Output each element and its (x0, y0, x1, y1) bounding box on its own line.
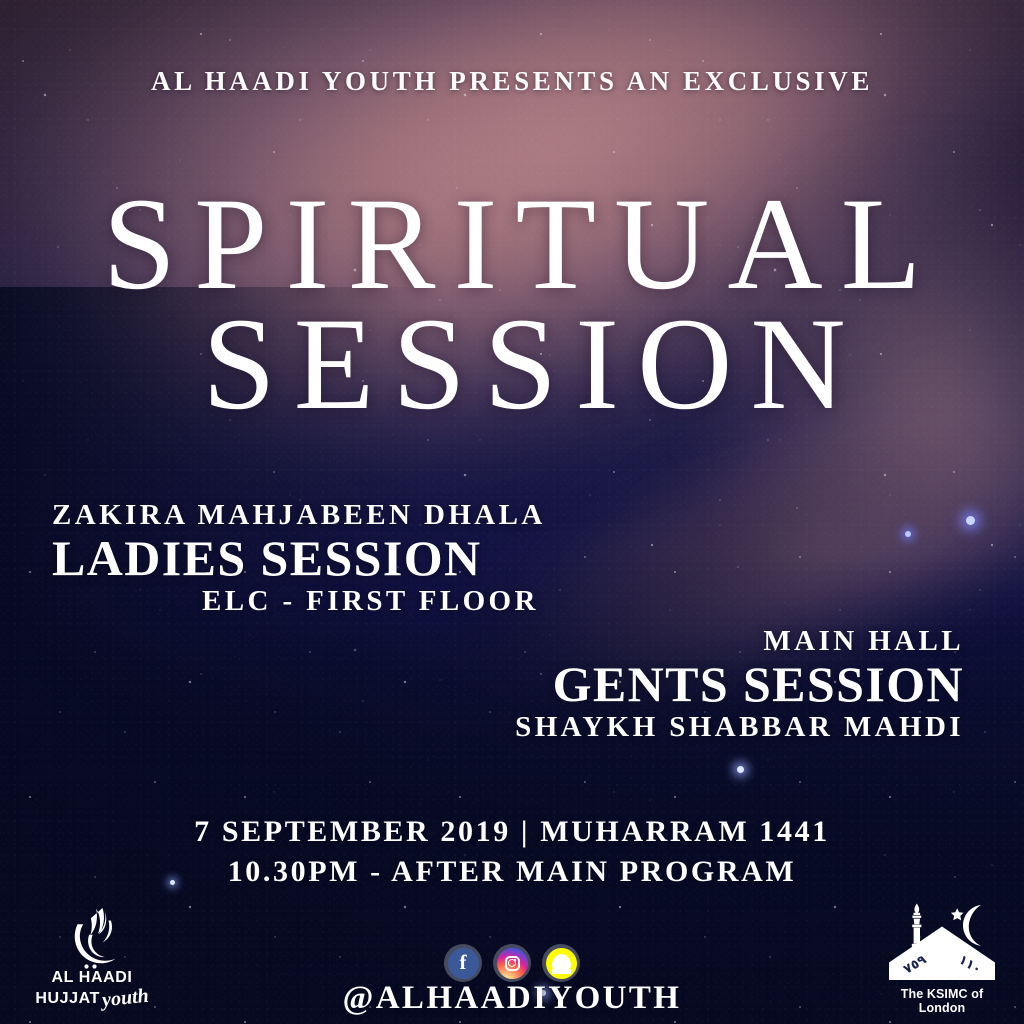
facebook-icon[interactable]: f (448, 948, 479, 979)
instagram-icon-halo[interactable] (493, 944, 531, 982)
snapchat-ghost-glyph (552, 954, 571, 973)
instagram-icon[interactable] (497, 948, 528, 979)
gents-session-block: MAIN HALL GENTS SESSION SHAYKH SHABBAR M… (515, 626, 964, 742)
bright-star (966, 516, 975, 525)
event-date-line: 7 SEPTEMBER 2019 | MUHARRAM 1441 (0, 812, 1024, 852)
event-time-line: 10.30PM - AFTER MAIN PROGRAM (0, 852, 1024, 892)
ksimc-logo-caption: The KSIMC of London (876, 987, 1008, 1015)
gents-session-title: GENTS SESSION (515, 657, 964, 712)
al-haadi-logo-youth-script: youth (101, 985, 150, 1011)
ladies-session-title: LADIES SESSION (52, 531, 546, 586)
bright-star (905, 531, 911, 537)
al-haadi-logo: AL HAADI HUJJAT youth (26, 906, 158, 1008)
al-haadi-logo-name-line-2: HUJJAT youth (26, 987, 158, 1008)
bright-star (737, 766, 744, 773)
gents-speaker-name: SHAYKH SHABBAR MAHDI (515, 712, 964, 743)
ksimc-mosque-icon: ٧٥٩ ١١٠ (876, 898, 1008, 986)
al-haadi-logo-name-line-1: AL HAADI (26, 970, 158, 987)
ladies-speaker-name: ZAKIRA MAHJABEEN DHALA (52, 500, 546, 531)
facebook-icon-halo[interactable]: f (444, 944, 482, 982)
al-haadi-logo-hujjat: HUJJAT (35, 991, 100, 1008)
snapchat-icon[interactable] (546, 948, 577, 979)
ladies-session-venue: ELC - FIRST FLOOR (202, 586, 546, 617)
ladies-session-block: ZAKIRA MAHJABEEN DHALA LADIES SESSION EL… (52, 500, 546, 616)
arabic-calligraphy-icon (26, 906, 158, 970)
event-datetime: 7 SEPTEMBER 2019 | MUHARRAM 1441 10.30PM… (0, 812, 1024, 891)
snapchat-icon-halo[interactable] (542, 944, 580, 982)
page-title-line-2: SESSION (0, 298, 1024, 430)
event-poster: AL HAADI YOUTH PRESENTS AN EXCLUSIVE SPI… (0, 0, 1024, 1024)
gents-session-venue: MAIN HALL (515, 626, 964, 657)
ksimc-logo: ٧٥٩ ١١٠ The KSIMC of London (876, 898, 1008, 1015)
instagram-camera-glyph (505, 956, 520, 971)
presents-kicker: AL HAADI YOUTH PRESENTS AN EXCLUSIVE (0, 66, 1024, 97)
